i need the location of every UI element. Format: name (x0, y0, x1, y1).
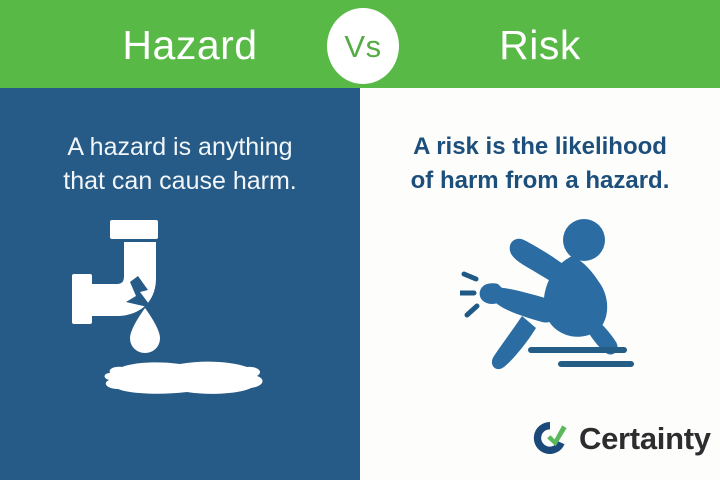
leaking-pipe-icon (52, 216, 292, 396)
certainty-logo-wordmark: Certainty (579, 423, 711, 454)
vs-badge-label: Vs (344, 31, 381, 62)
certainty-logo-mark-icon (530, 418, 570, 458)
header-title-hazard: Hazard (60, 20, 320, 70)
panel-risk: A risk is the likelihood of harm from a … (360, 88, 720, 480)
infographic-root: Hazard Risk Vs A hazard is anything that… (0, 0, 720, 480)
slipping-person-icon (460, 216, 650, 381)
vs-badge: Vs (327, 8, 399, 84)
certainty-logo: Certainty (530, 418, 711, 458)
header-title-risk: Risk (420, 20, 660, 70)
risk-caption: A risk is the likelihood of harm from a … (360, 130, 720, 198)
hazard-caption: A hazard is anything that can cause harm… (0, 130, 360, 198)
panel-hazard: A hazard is anything that can cause harm… (0, 88, 360, 480)
